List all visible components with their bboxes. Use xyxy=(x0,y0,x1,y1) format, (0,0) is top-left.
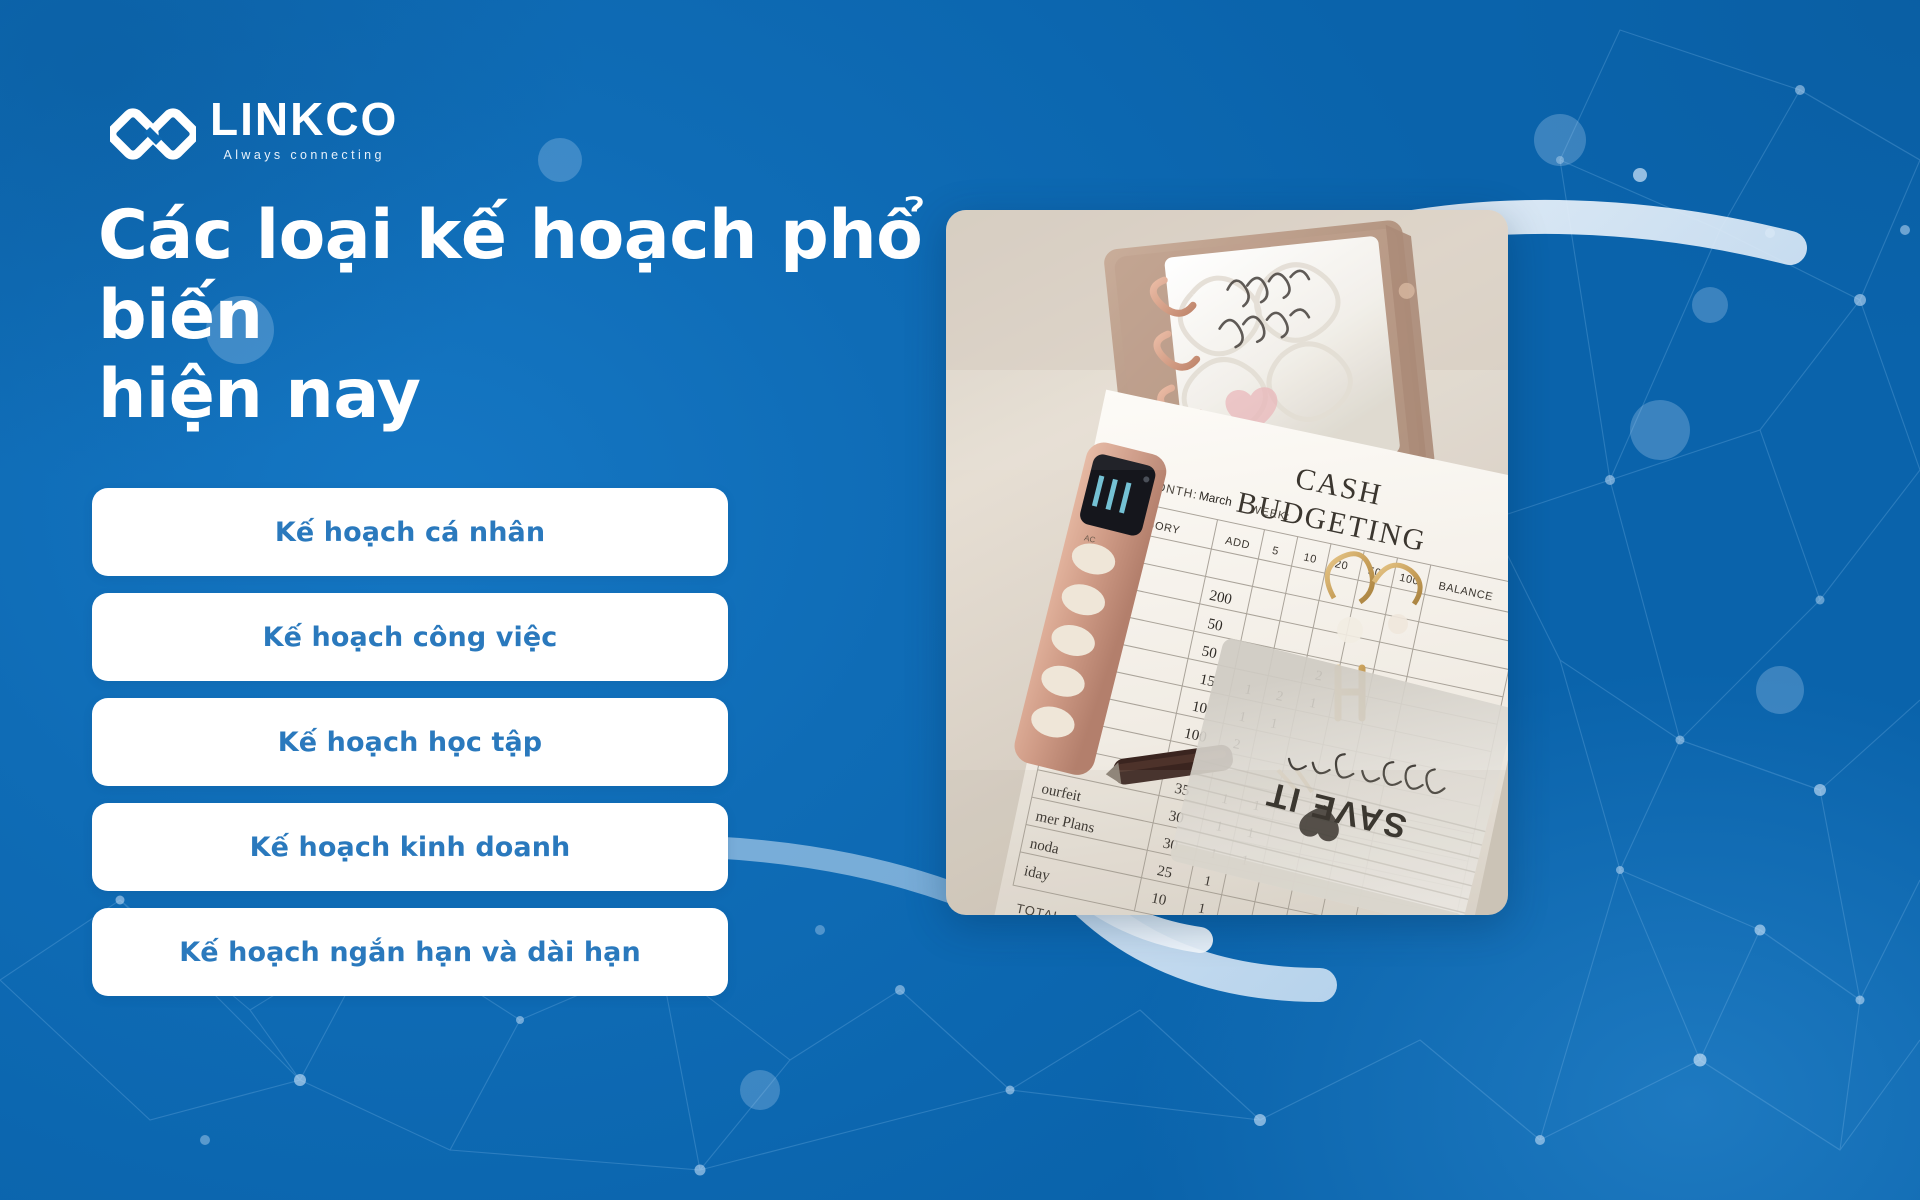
brand-logo[interactable]: LINKCO Always connecting xyxy=(110,96,398,162)
plan-type-label: Kế hoạch học tập xyxy=(278,727,542,758)
plan-type-label: Kế hoạch cá nhân xyxy=(275,517,545,548)
interlocking-links-logo-icon xyxy=(110,100,196,162)
brand-wordmark: LINKCO xyxy=(210,96,398,142)
plan-type-label: Kế hoạch kinh doanh xyxy=(250,832,571,863)
plan-type-list: Kế hoạch cá nhân Kế hoạch công việc Kế h… xyxy=(92,488,728,996)
plan-type-label: Kế hoạch công việc xyxy=(263,622,558,653)
planner-photo: CASH BUDGETING MONTH: March WEEK: xyxy=(946,210,1508,915)
plan-type-item-short-long-term[interactable]: Kế hoạch ngắn hạn và dài hạn xyxy=(92,908,728,996)
plan-type-item-work[interactable]: Kế hoạch công việc xyxy=(92,593,728,681)
brand-wordmark-group: LINKCO Always connecting xyxy=(210,96,398,162)
plan-type-item-business[interactable]: Kế hoạch kinh doanh xyxy=(92,803,728,891)
brand-tagline: Always connecting xyxy=(210,148,398,162)
plan-type-item-study[interactable]: Kế hoạch học tập xyxy=(92,698,728,786)
planner-photo-illustration: CASH BUDGETING MONTH: March WEEK: xyxy=(946,210,1508,915)
plan-type-item-personal[interactable]: Kế hoạch cá nhân xyxy=(92,488,728,576)
plan-type-label: Kế hoạch ngắn hạn và dài hạn xyxy=(179,937,641,968)
